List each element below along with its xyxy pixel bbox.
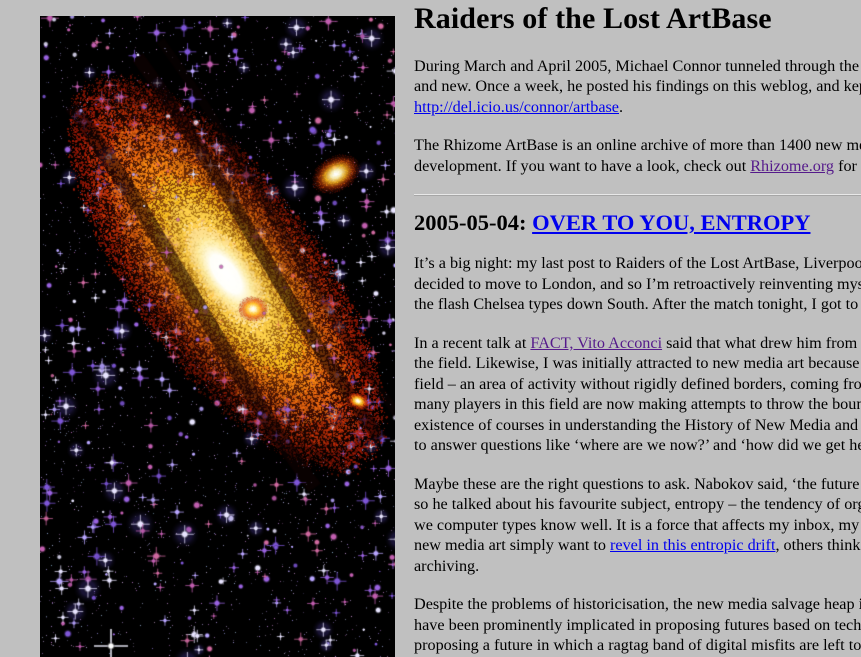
page-root: Raiders of the Lost ArtBase During March… <box>0 0 861 657</box>
delicious-artbase-link[interactable]: http://del.icio.us/connor/artbase <box>414 98 619 116</box>
entropic-drift-link[interactable]: revel in this entropic drift <box>610 536 775 554</box>
article-column: Raiders of the Lost ArtBase During March… <box>395 0 861 657</box>
entry-paragraph-2: In a recent talk at FACT, Vito Acconci s… <box>414 333 861 456</box>
entry-paragraph-4: Despite the problems of historicisation,… <box>414 594 861 657</box>
page-title: Raiders of the Lost ArtBase <box>414 2 861 36</box>
entry-title-link[interactable]: OVER TO YOU, ENTROPY <box>532 210 810 235</box>
section-divider <box>414 194 861 196</box>
entry-paragraph-1: It’s a big night: my last post to Raider… <box>414 253 861 315</box>
rhizome-org-link[interactable]: Rhizome.org <box>750 157 834 175</box>
intro-p1-text-before: During March and April 2005, Michael Con… <box>414 57 861 96</box>
galaxy-image <box>40 16 435 657</box>
intro-paragraph-1: During March and April 2005, Michael Con… <box>414 56 861 118</box>
intro-p1-text-after: . <box>619 98 623 116</box>
entry-heading: 2005-05-04: OVER TO YOU, ENTROPY <box>414 210 861 235</box>
fact-vito-acconci-link[interactable]: FACT, Vito Acconci <box>530 334 662 352</box>
intro-p2-text-after: for a tour of the collection. <box>834 157 861 175</box>
andromeda-galaxy-canvas <box>40 16 435 657</box>
article-content: Raiders of the Lost ArtBase During March… <box>395 2 861 657</box>
entry-date: 2005-05-04: <box>414 210 526 235</box>
entry-p2-text-before: In a recent talk at <box>414 334 530 352</box>
intro-paragraph-2: The Rhizome ArtBase is an online archive… <box>414 135 861 176</box>
entry-paragraph-3: Maybe these are the right questions to a… <box>414 474 861 577</box>
